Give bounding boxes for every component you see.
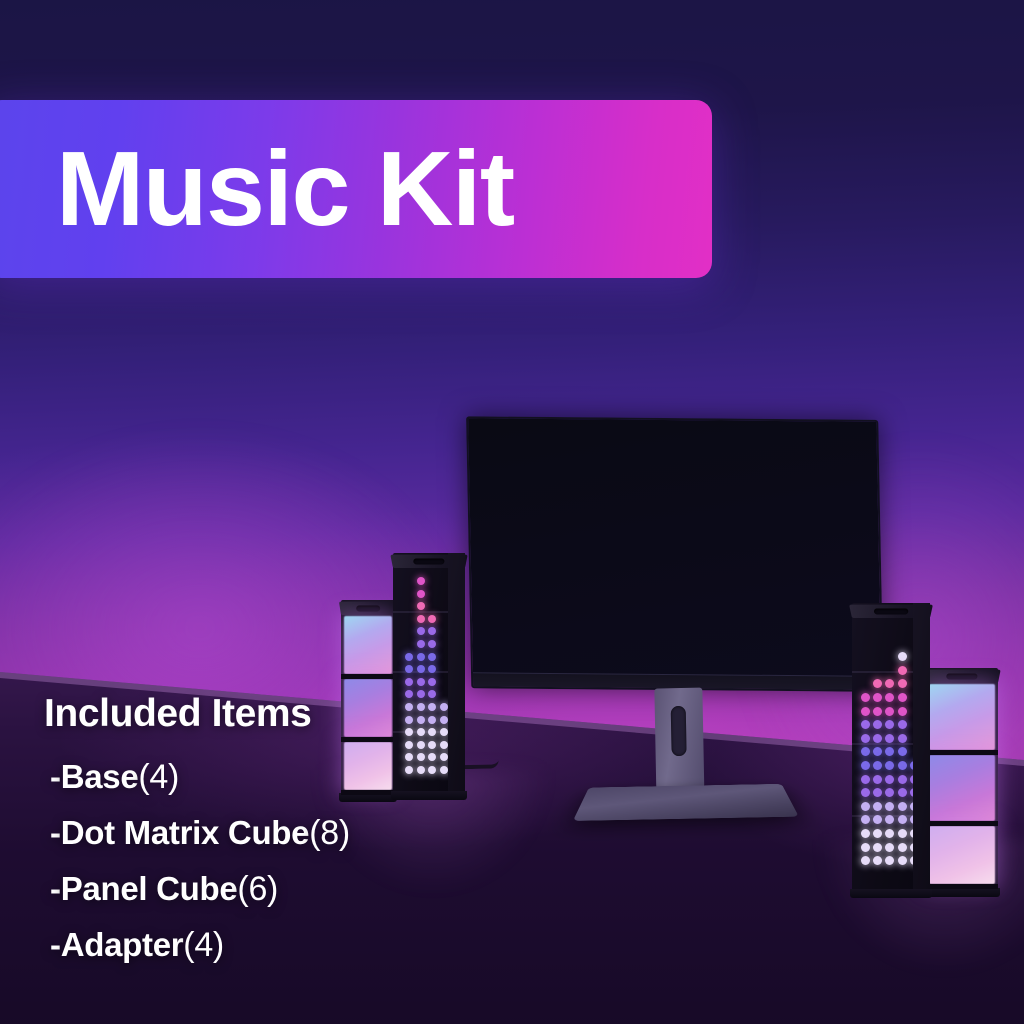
list-item-label: Adapter xyxy=(61,926,184,963)
connector-port-icon xyxy=(356,605,380,611)
product-image: Music Kit DELL xyxy=(0,0,1024,1024)
led-dot xyxy=(428,627,436,635)
led-dot xyxy=(885,747,894,756)
list-item-label: Dot Matrix Cube xyxy=(61,814,310,851)
led-dot xyxy=(873,856,882,865)
led-dot xyxy=(885,720,894,729)
led-dot xyxy=(861,747,870,756)
led-dot xyxy=(873,707,882,716)
tower-top-cap xyxy=(339,602,397,615)
list-item: -Dot Matrix Cube(8) xyxy=(50,814,514,853)
led-dot xyxy=(861,802,870,811)
led-dot xyxy=(417,653,425,661)
panel-seam xyxy=(926,750,998,755)
led-dot xyxy=(885,843,894,852)
tower-side-face xyxy=(913,603,930,891)
led-dot xyxy=(898,815,907,824)
led-dot xyxy=(428,678,436,686)
list-item-dash: - xyxy=(50,870,61,907)
led-dot xyxy=(428,640,436,648)
panel-cube xyxy=(929,755,995,821)
connector-port-icon xyxy=(413,558,445,564)
led-dot xyxy=(873,788,882,797)
led-dot xyxy=(417,615,425,623)
led-dot xyxy=(861,734,870,743)
led-dot xyxy=(405,653,413,661)
led-dot xyxy=(417,602,425,610)
panel-seam xyxy=(341,674,395,679)
list-item-label: Panel Cube xyxy=(61,870,238,907)
monitor-cable-slot xyxy=(671,706,687,756)
list-item-label: Base xyxy=(61,758,139,795)
led-dot xyxy=(898,652,907,661)
dell-monitor: DELL xyxy=(466,414,894,822)
led-dot xyxy=(428,653,436,661)
led-dot xyxy=(898,666,907,675)
led-dot xyxy=(885,679,894,688)
led-dot xyxy=(885,856,894,865)
list-item: -Panel Cube(6) xyxy=(50,870,514,909)
led-dot xyxy=(873,761,882,770)
led-dot xyxy=(861,815,870,824)
led-dot xyxy=(873,679,882,688)
led-dot xyxy=(898,707,907,716)
led-dot xyxy=(873,815,882,824)
led-dot xyxy=(898,734,907,743)
right-panel-tower xyxy=(926,668,998,890)
led-dot xyxy=(873,693,882,702)
list-item-dash: - xyxy=(50,758,61,795)
led-dot xyxy=(428,615,436,623)
led-dot xyxy=(885,788,894,797)
led-dot xyxy=(885,707,894,716)
led-dot xyxy=(417,590,425,598)
list-item-dash: - xyxy=(50,814,61,851)
right-dot-matrix-tower xyxy=(852,603,930,891)
led-dot xyxy=(417,640,425,648)
led-dot xyxy=(861,829,870,838)
list-item-qty: (4) xyxy=(138,758,179,796)
monitor-stand-base xyxy=(573,784,799,821)
included-items-heading: Included Items xyxy=(44,692,514,736)
monitor-screen: DELL xyxy=(466,416,883,692)
panel-cube xyxy=(929,826,995,884)
led-dot xyxy=(885,734,894,743)
led-dot xyxy=(885,802,894,811)
led-dot xyxy=(898,829,907,838)
tower-base xyxy=(924,888,1000,897)
led-dot xyxy=(417,627,425,635)
dell-logo: DELL xyxy=(661,677,693,687)
led-dot xyxy=(898,775,907,784)
title-banner: Music Kit xyxy=(0,100,712,278)
led-dot xyxy=(861,761,870,770)
led-dot xyxy=(898,856,907,865)
page-title: Music Kit xyxy=(56,136,514,242)
led-dot xyxy=(873,843,882,852)
led-dot xyxy=(885,775,894,784)
led-dot xyxy=(885,761,894,770)
led-dot xyxy=(885,815,894,824)
led-dot xyxy=(861,707,870,716)
led-dot xyxy=(861,720,870,729)
led-dot xyxy=(898,747,907,756)
list-item-qty: (8) xyxy=(309,814,350,852)
led-dot xyxy=(898,679,907,688)
panel-cube xyxy=(929,684,995,750)
list-item: -Adapter(4) xyxy=(50,926,514,965)
led-dot xyxy=(898,802,907,811)
led-dot xyxy=(885,693,894,702)
panel-seam xyxy=(926,884,998,889)
led-dot xyxy=(861,775,870,784)
list-item-qty: (4) xyxy=(183,926,224,964)
led-dot xyxy=(873,747,882,756)
led-dot xyxy=(898,788,907,797)
connector-port-icon xyxy=(946,673,978,679)
connector-port-icon xyxy=(874,608,909,614)
led-dot xyxy=(417,665,425,673)
led-dot xyxy=(873,734,882,743)
list-item: -Base(4) xyxy=(50,758,514,797)
led-dot xyxy=(405,678,413,686)
led-dot xyxy=(417,577,425,585)
led-dot xyxy=(873,829,882,838)
led-dot xyxy=(861,856,870,865)
led-dot xyxy=(898,720,907,729)
led-dot xyxy=(898,843,907,852)
led-dot xyxy=(873,802,882,811)
led-dot xyxy=(417,678,425,686)
panel-seam xyxy=(926,821,998,826)
led-dot xyxy=(885,829,894,838)
led-dot xyxy=(861,693,870,702)
led-dot xyxy=(898,761,907,770)
panel-cube xyxy=(344,616,392,674)
included-items-block: Included Items -Base(4) -Dot Matrix Cube… xyxy=(44,692,514,982)
led-dot xyxy=(873,775,882,784)
led-dot xyxy=(861,843,870,852)
led-dot xyxy=(898,693,907,702)
led-dot xyxy=(861,788,870,797)
list-item-qty: (6) xyxy=(237,870,278,908)
list-item-dash: - xyxy=(50,926,61,963)
tower-base xyxy=(850,889,932,898)
tower-top-cap xyxy=(923,670,1000,683)
led-dot xyxy=(873,720,882,729)
